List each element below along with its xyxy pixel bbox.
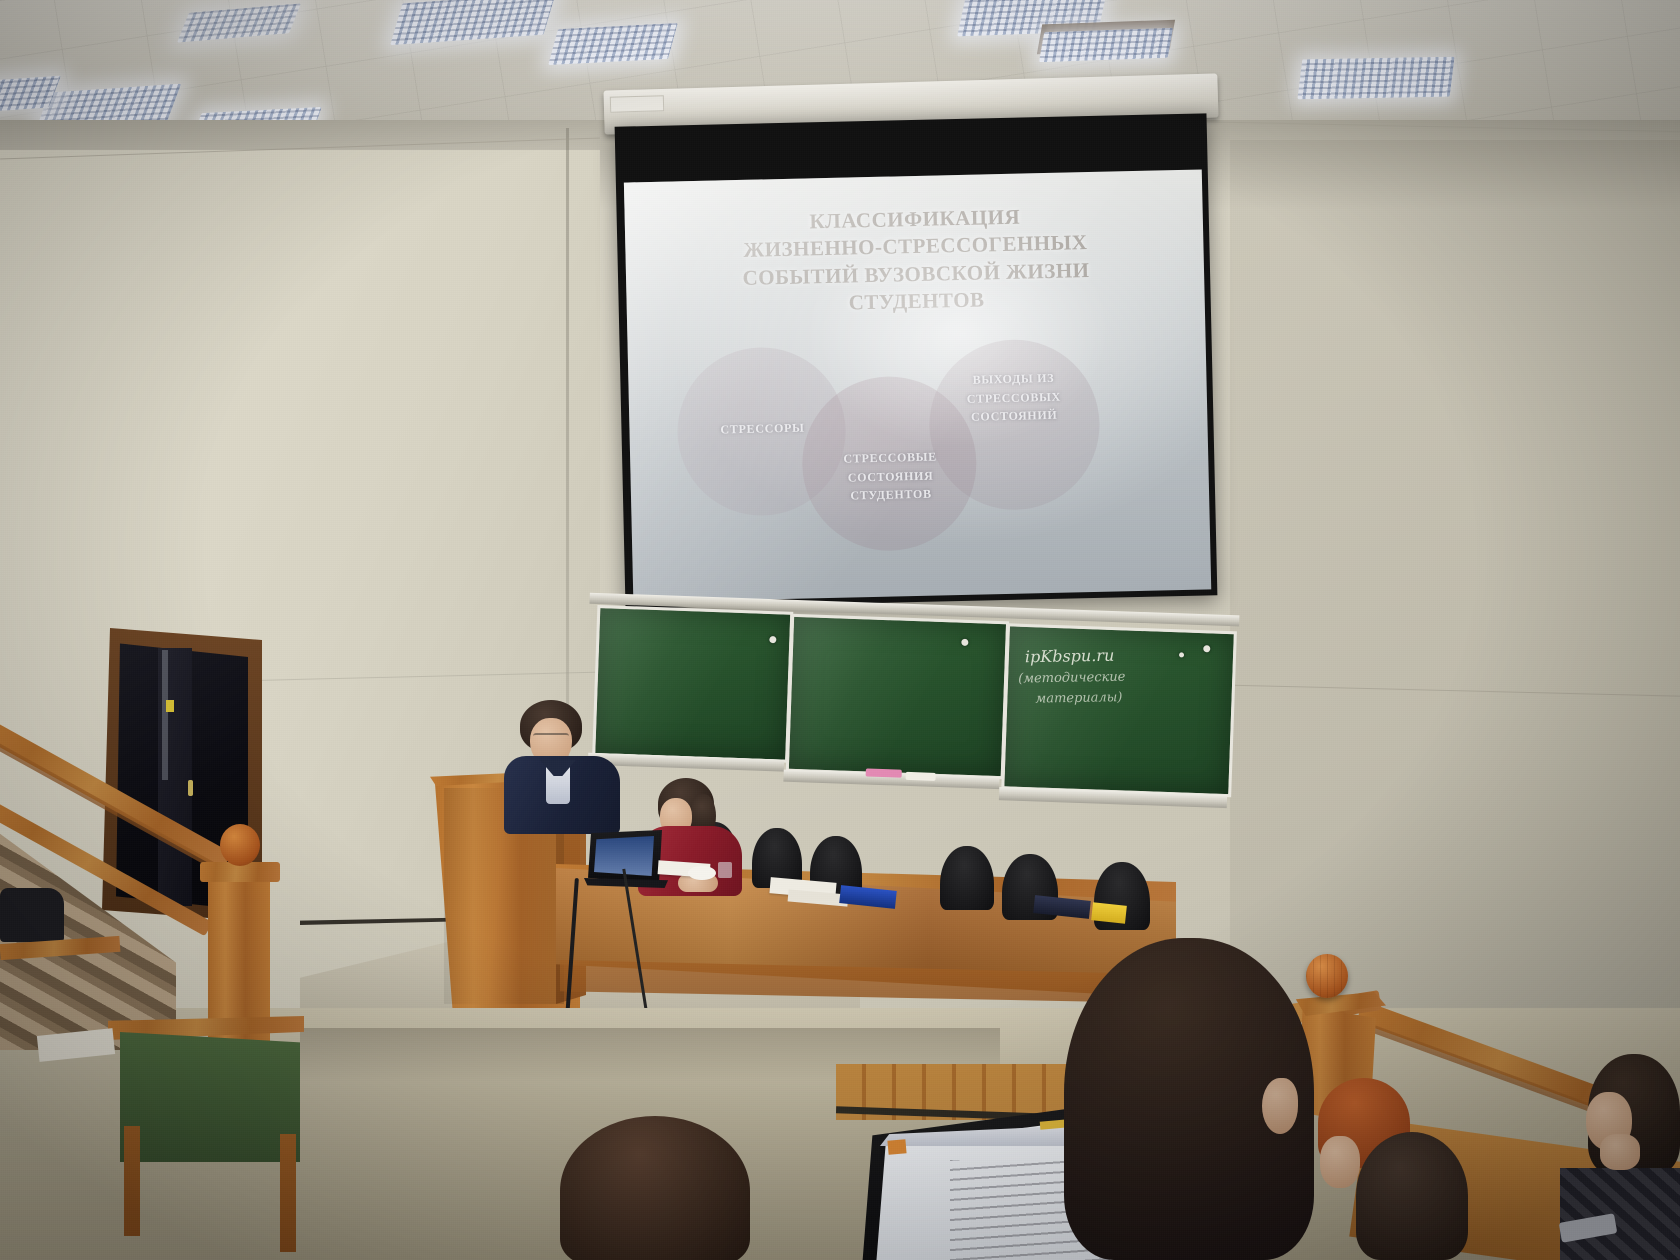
ceiling-lamp-9	[1297, 57, 1454, 100]
door-highlight	[162, 650, 168, 780]
bench-body-left	[120, 1032, 300, 1162]
bench-leg-left	[124, 1126, 140, 1236]
newel-ball-right-ribs	[1306, 954, 1348, 998]
chair-4	[940, 846, 994, 910]
ceiling-lamp-6	[548, 23, 678, 65]
chalkboard-writing-line-1: ipKbspu.ru	[1025, 646, 1115, 667]
screen-surface: КЛАССИФИКАЦИЯ ЖИЗНЕННО-СТРЕССОГЕННЫХ СОБ…	[624, 169, 1211, 602]
yellow-card	[1091, 902, 1127, 923]
cup-saucer	[688, 866, 716, 880]
speaker-glasses-icon	[533, 733, 569, 742]
seat-dark-left	[0, 888, 64, 942]
door-label-yellow	[166, 700, 174, 712]
audience-head-dark-front	[1356, 1132, 1468, 1260]
screen-hotspot	[805, 212, 1110, 449]
drinking-glass	[718, 862, 732, 878]
chalkboard-writing-line-3: материалы)	[1035, 690, 1122, 707]
audience-far-right-hand	[1600, 1134, 1640, 1170]
audience-right-male-ear	[1262, 1078, 1298, 1134]
audience-head-center	[560, 1116, 750, 1260]
newel-ball-left	[220, 824, 260, 866]
speaker-person	[500, 700, 630, 830]
projection-screen: КЛАССИФИКАЦИЯ ЖИЗНЕННО-СТРЕССОГЕННЫХ СОБ…	[615, 113, 1218, 608]
chalkboard-panel-3: ipKbspu.ru (методические материалы)	[1001, 623, 1237, 797]
foreground-laptop-toolbar-orange	[887, 1139, 906, 1155]
door-handle-icon	[188, 780, 193, 796]
audience-red-hair-face	[1320, 1136, 1360, 1188]
chalk-piece-pink	[866, 768, 902, 777]
chalkboard-panel-2	[786, 614, 1009, 780]
chalkboard-writing-line-2: (методические	[1018, 670, 1125, 687]
chalk-piece-white	[906, 772, 936, 781]
lecture-hall-photo: КЛАССИФИКАЦИЯ ЖИЗНЕННО-СТРЕССОГЕННЫХ СОБ…	[0, 0, 1680, 1260]
wall-right-shade	[1230, 140, 1680, 1020]
audience-far-right-clothing	[1560, 1168, 1680, 1260]
ceiling-lamp-8	[1039, 28, 1173, 62]
screen-housing-cap	[610, 95, 664, 113]
bench-leg-right	[280, 1134, 296, 1252]
